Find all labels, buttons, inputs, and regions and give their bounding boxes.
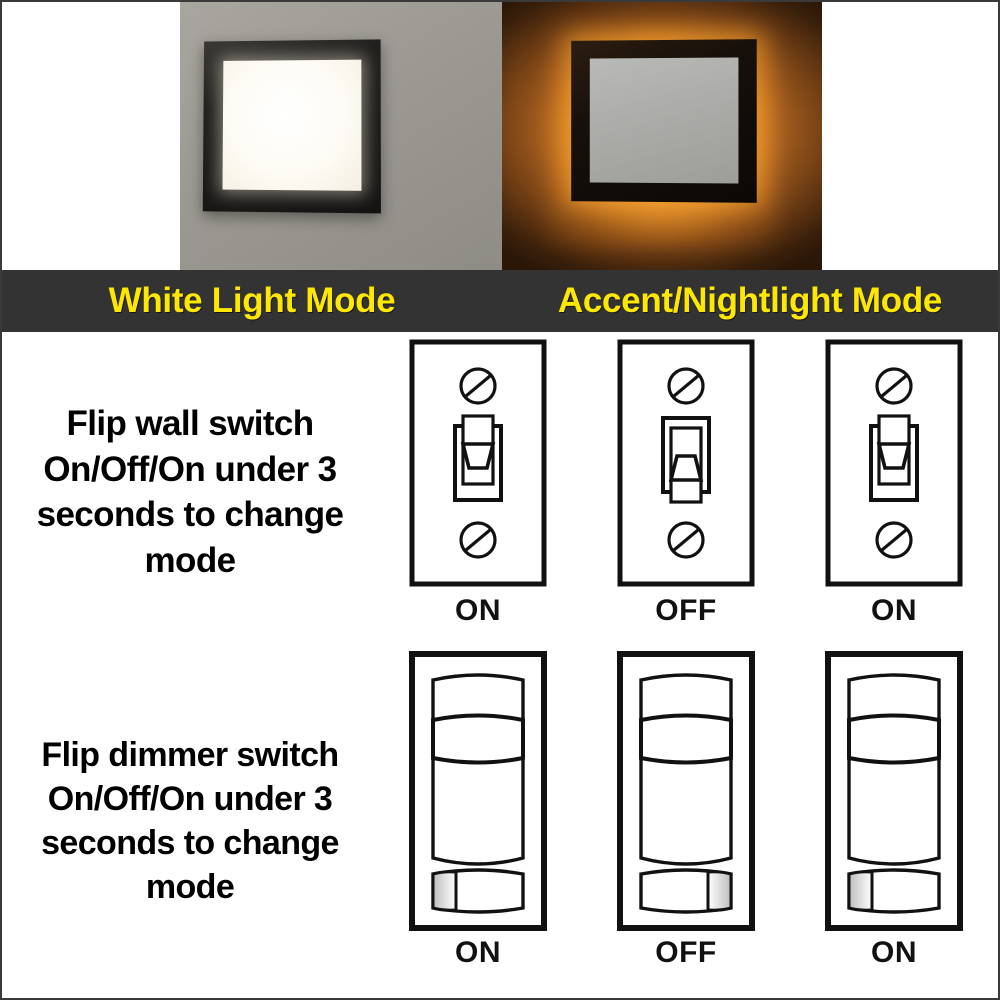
row-wall-switch: Flip wall switch On/Off/On under 3 secon… [2, 336, 998, 648]
fixture-lit-panel [222, 60, 361, 191]
wall-switch-step-3[interactable]: ON [824, 338, 964, 628]
dimmer-switch-on-icon[interactable] [824, 650, 964, 932]
dimmer-switch-label-3: ON [871, 936, 917, 970]
dimmer-switch-step-2[interactable]: OFF [616, 650, 756, 970]
dimmer-rocker-active-segment [849, 872, 872, 911]
row-dimmer-switch: Flip dimmer switch On/Off/On under 3 sec… [2, 648, 998, 994]
photo-left-margin [2, 2, 180, 270]
dimmer-switch-step-1[interactable]: ON [408, 650, 548, 970]
toggle-switch-off-icon[interactable] [616, 338, 756, 588]
photo-right-margin [822, 2, 998, 270]
instruction-text-dimmer-switch: Flip dimmer switch On/Off/On under 3 sec… [20, 733, 360, 910]
toggle-lever-tip [463, 444, 493, 468]
toggle-lever-tip [879, 444, 909, 468]
dimmer-slider-band[interactable] [849, 716, 939, 763]
dimmer-rocker-active-segment [433, 872, 456, 911]
instruction-diagram: White Light Mode Accent/Nightlight Mode … [0, 0, 1000, 1000]
dimmer-switch-on-icon[interactable] [408, 650, 548, 932]
dimmer-slider-band[interactable] [641, 716, 731, 763]
dimmer-switch-step-3[interactable]: ON [824, 650, 964, 970]
dimmer-rocker-active-segment [708, 872, 731, 911]
wall-switch-step-2[interactable]: OFF [616, 338, 756, 628]
ceiling-fixture-accent-mode [571, 39, 757, 203]
ceiling-fixture-white-mode [203, 39, 381, 213]
dimmer-switch-off-icon[interactable] [616, 650, 756, 932]
photo-white-light-mode [180, 2, 502, 270]
instruction-column-wall-switch: Flip wall switch On/Off/On under 3 secon… [2, 336, 374, 648]
device-column-dimmer-switch: ON [374, 648, 998, 994]
toggle-switch-on-icon[interactable] [408, 338, 548, 588]
product-photo-strip [2, 2, 998, 270]
wall-switch-label-3: ON [871, 594, 917, 628]
fixture-unlit-panel [590, 57, 739, 183]
toggle-switch-on-icon[interactable] [824, 338, 964, 588]
wall-switch-label-1: ON [455, 594, 501, 628]
toggle-lever-tip [671, 456, 701, 480]
photo-accent-nightlight-mode [502, 2, 822, 270]
mode-title-white-light: White Light Mode [2, 281, 502, 321]
dimmer-switch-label-1: ON [455, 936, 501, 970]
dimmer-paddle[interactable] [849, 675, 939, 864]
dimmer-paddle[interactable] [641, 675, 731, 864]
wall-switch-step-1[interactable]: ON [408, 338, 548, 628]
dimmer-slider-band[interactable] [433, 716, 523, 763]
dimmer-switch-label-2: OFF [655, 936, 717, 970]
mode-title-band: White Light Mode Accent/Nightlight Mode [2, 270, 998, 332]
dimmer-paddle[interactable] [433, 675, 523, 864]
mode-title-accent-nightlight: Accent/Nightlight Mode [502, 281, 998, 321]
instruction-rows: Flip wall switch On/Off/On under 3 secon… [2, 332, 998, 998]
instruction-text-wall-switch: Flip wall switch On/Off/On under 3 secon… [20, 401, 360, 583]
device-column-wall-switch: ON OFF [374, 336, 998, 648]
wall-switch-label-2: OFF [655, 594, 717, 628]
instruction-column-dimmer-switch: Flip dimmer switch On/Off/On under 3 sec… [2, 648, 374, 994]
